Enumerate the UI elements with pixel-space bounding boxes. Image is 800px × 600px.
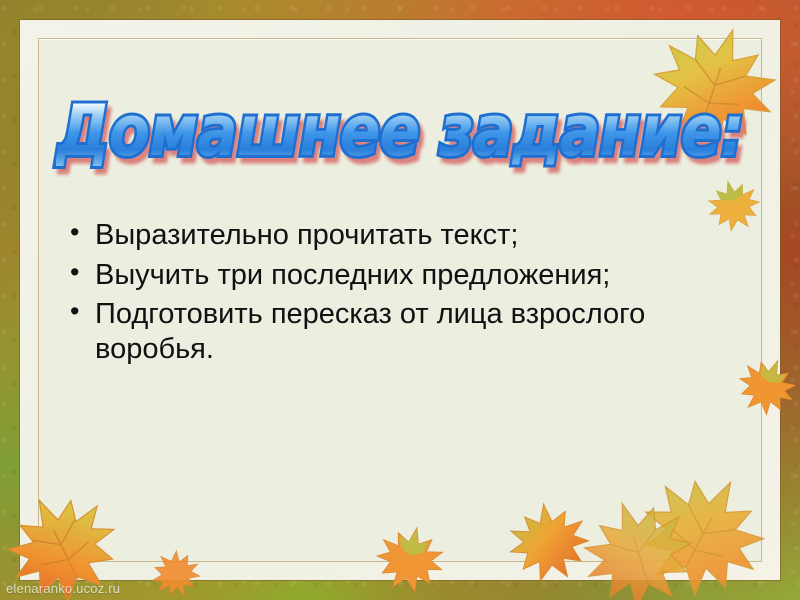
source-watermark: elenaranko.ucoz.ru	[6, 581, 120, 596]
homework-bullet-list: Выразительно прочитать текст; Выучить тр…	[62, 218, 702, 371]
presentation-slide: Домашнее задание: Домашнее задание: Дома…	[0, 0, 800, 600]
list-item: Выучить три последних предложения;	[62, 258, 702, 293]
list-item: Подготовить пересказ от лица взрослого в…	[62, 297, 702, 366]
list-item: Выразительно прочитать текст;	[62, 218, 702, 253]
slide-title: Домашнее задание: Домашнее задание: Дома…	[0, 96, 800, 156]
slide-title-text: Домашнее задание:	[56, 90, 743, 173]
